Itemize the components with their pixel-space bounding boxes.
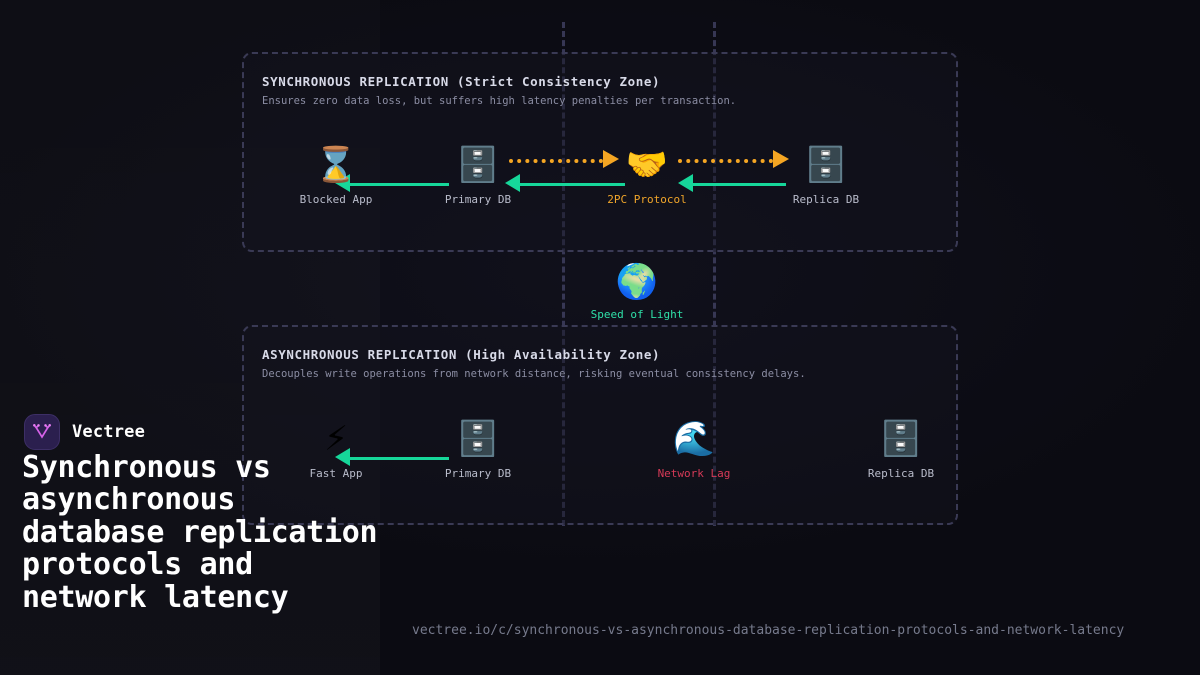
database-cabinet-icon: 🗄️ — [841, 416, 961, 462]
zone-asynchronous-subtitle: Decouples write operations from network … — [262, 368, 806, 380]
page-url: vectree.io/c/synchronous-vs-asynchronous… — [412, 623, 1124, 638]
node-label: Network Lag — [658, 467, 731, 480]
node-2pc-protocol[interactable]: 🤝 2PC Protocol — [587, 142, 707, 207]
database-cabinet-icon: 🗄️ — [418, 142, 538, 188]
node-blocked-app[interactable]: ⌛ Blocked App — [276, 142, 396, 207]
wave-icon: 🌊 — [634, 416, 754, 462]
brand-name: Vectree — [72, 422, 145, 442]
hourglass-icon: ⌛ — [276, 142, 396, 188]
node-label: Replica DB — [793, 193, 859, 206]
database-cabinet-icon: 🗄️ — [766, 142, 886, 188]
handshake-icon: 🤝 — [587, 142, 707, 188]
node-label: Primary DB — [445, 193, 511, 206]
database-cabinet-icon: 🗄️ — [418, 416, 538, 462]
earth-globe-icon: 🌍 — [557, 261, 717, 303]
node-label: Primary DB — [445, 467, 511, 480]
diagram-canvas: SYNCHRONOUS REPLICATION (Strict Consiste… — [0, 0, 1200, 675]
node-label: Blocked App — [300, 193, 373, 206]
node-primary-db-sync[interactable]: 🗄️ Primary DB — [418, 142, 538, 207]
node-replica-db-async[interactable]: 🗄️ Replica DB — [841, 416, 961, 481]
node-network-lag[interactable]: 🌊 Network Lag — [634, 416, 754, 481]
brand: Vectree — [24, 414, 145, 450]
speed-of-light-label: Speed of Light — [591, 308, 684, 321]
zone-asynchronous-title: ASYNCHRONOUS REPLICATION (High Availabil… — [262, 347, 660, 362]
speed-of-light-marker: 🌍 Speed of Light — [557, 261, 717, 322]
node-label: 2PC Protocol — [607, 193, 686, 206]
zone-synchronous-title: SYNCHRONOUS REPLICATION (Strict Consiste… — [262, 74, 660, 89]
node-primary-db-async[interactable]: 🗄️ Primary DB — [418, 416, 538, 481]
vectree-logo-icon — [24, 414, 60, 450]
node-label: Replica DB — [868, 467, 934, 480]
node-replica-db-sync[interactable]: 🗄️ Replica DB — [766, 142, 886, 207]
page-title: Synchronous vs asynchronous database rep… — [22, 452, 392, 614]
zone-synchronous-subtitle: Ensures zero data loss, but suffers high… — [262, 95, 736, 107]
